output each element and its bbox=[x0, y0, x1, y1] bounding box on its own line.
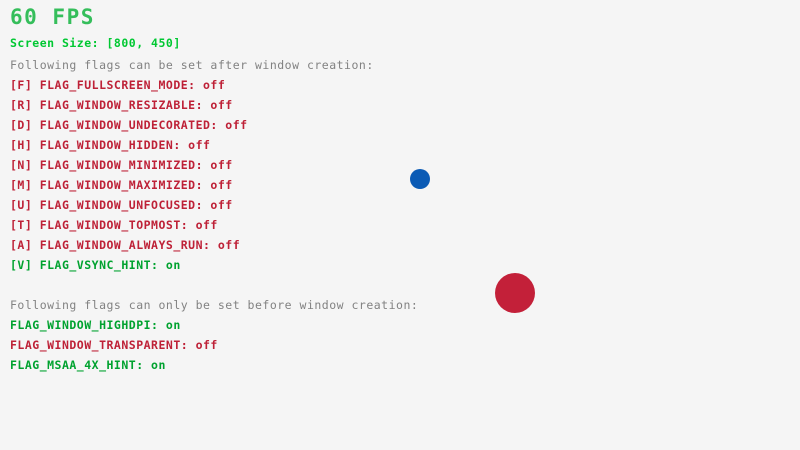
flag-row-window-resizable[interactable]: [R] FLAG_WINDOW_RESIZABLE: off bbox=[10, 100, 233, 112]
blue-circle bbox=[410, 169, 430, 189]
flag-row-window-unfocused[interactable]: [U] FLAG_WINDOW_UNFOCUSED: off bbox=[10, 200, 233, 212]
section-heading-before-creation: Following flags can only be set before w… bbox=[10, 300, 418, 312]
red-circle bbox=[495, 273, 535, 313]
flag-row-window-topmost[interactable]: [T] FLAG_WINDOW_TOPMOST: off bbox=[10, 220, 218, 232]
flag-row-fullscreen-mode[interactable]: [F] FLAG_FULLSCREEN_MODE: off bbox=[10, 80, 225, 92]
fps-counter: 60 FPS bbox=[10, 7, 95, 28]
flag-row-window-minimized[interactable]: [N] FLAG_WINDOW_MINIMIZED: off bbox=[10, 160, 233, 172]
flag-row-window-undecorated[interactable]: [D] FLAG_WINDOW_UNDECORATED: off bbox=[10, 120, 248, 132]
flag-row-msaa-4x-hint: FLAG_MSAA_4X_HINT: on bbox=[10, 360, 166, 372]
flag-row-window-hidden[interactable]: [H] FLAG_WINDOW_HIDDEN: off bbox=[10, 140, 210, 152]
flag-row-vsync-hint[interactable]: [V] FLAG_VSYNC_HINT: on bbox=[10, 260, 181, 272]
section-heading-after-creation: Following flags can be set after window … bbox=[10, 60, 374, 72]
flag-row-window-highdpi: FLAG_WINDOW_HIGHDPI: on bbox=[10, 320, 181, 332]
flag-row-window-transparent: FLAG_WINDOW_TRANSPARENT: off bbox=[10, 340, 218, 352]
screen-size-label: Screen Size: [800, 450] bbox=[10, 38, 181, 50]
flag-row-window-maximized[interactable]: [M] FLAG_WINDOW_MAXIMIZED: off bbox=[10, 180, 233, 192]
flag-row-window-always-run[interactable]: [A] FLAG_WINDOW_ALWAYS_RUN: off bbox=[10, 240, 240, 252]
raylib-window-canvas[interactable]: 60 FPS Screen Size: [800, 450] Following… bbox=[0, 0, 800, 450]
